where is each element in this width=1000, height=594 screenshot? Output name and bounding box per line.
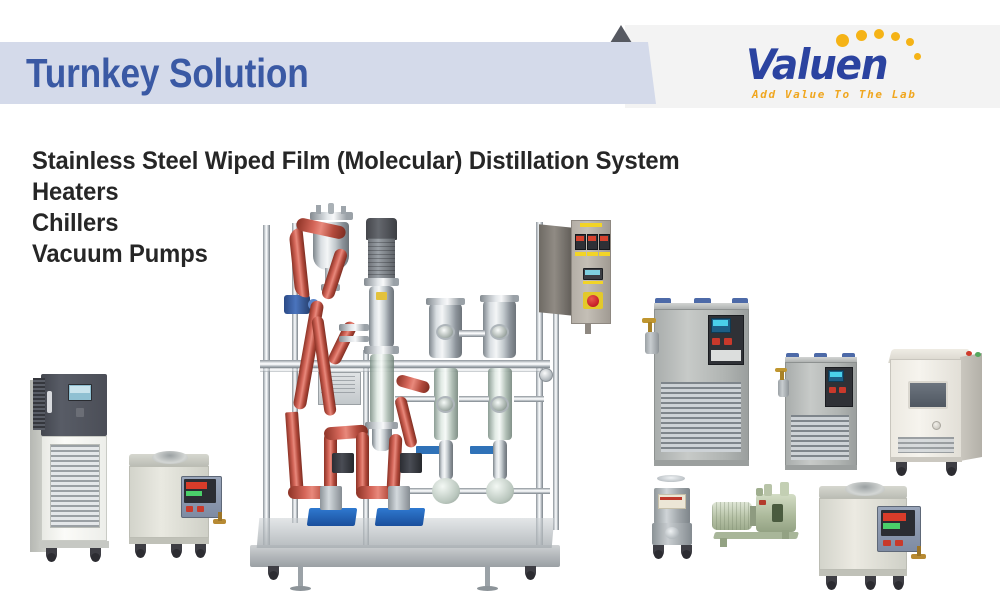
brand-logo[interactable]: Valuen Add Value To The Lab [742,28,928,102]
skid-evaporator-jacket [370,354,394,424]
skid-crossover-pipe-1 [459,330,485,337]
air-chiller-caster-1 [896,462,907,475]
chiller-left-lock-icon[interactable] [76,408,84,417]
product-rotary-vane-pump[interactable] [712,482,807,554]
rotary-pump-intake-port [764,484,772,496]
product-tall-chiller-left[interactable] [30,364,116,564]
product-bath-circulator-left[interactable] [125,446,230,564]
skid-pump-2-body [388,486,410,510]
product-control-cabinet[interactable] [533,216,615,346]
chiller-left-caster-1 [46,548,57,561]
rotary-pump-oil-fill[interactable] [756,488,763,496]
roots-pump-center-boss [665,527,679,539]
bath-left-button-1[interactable] [186,506,193,512]
logo-dot-3 [874,29,884,39]
skid-pump-2-motor [400,453,422,473]
bath-left-caster-3 [195,544,206,557]
product-chiller-large-right[interactable] [650,290,760,475]
skid-feed-vessel-port-3 [341,206,346,214]
skid-receiver-1-valve [439,440,453,480]
skid-receiver-1-top-clamp [426,298,465,305]
skid-pump-1-motor [332,453,354,473]
product-air-cooled-chiller[interactable] [884,345,994,480]
skid-valve-cluster-1 [339,324,369,331]
bath-right-caster-3 [893,576,904,589]
cabinet-display-label [583,281,603,284]
cabinet-controller-readout-3 [600,236,608,241]
chiller-left-vent-top [33,378,45,430]
chiller-small-button-2[interactable] [839,387,846,393]
skid-gauge [539,368,553,382]
cabinet-back-door[interactable] [539,224,573,316]
skid-pressure-transmitter [284,295,310,314]
skid-feed-vessel-port-1 [316,205,321,214]
chiller-large-warning-label [711,350,741,361]
chiller-large-button-2[interactable] [724,338,732,345]
skid-evaporator-flange-top [364,278,399,286]
air-chiller-indicator-green [975,352,981,357]
chiller-small-louvers [791,415,849,460]
skid-crossover-pipe-2 [459,396,489,402]
bath-right-button-1[interactable] [883,540,891,546]
skid-hose-evap-out [395,374,431,395]
skid-caster-right [525,566,536,579]
skid-pump-1-body [320,486,342,510]
poster-canvas: Turnkey Solution Valuen Add Value To The… [0,0,1000,594]
skid-pump-base-2 [375,508,426,526]
skid-caster-left [268,566,279,579]
page-title: Turnkey Solution [26,46,309,100]
roots-pump-label-text-line [660,497,682,500]
skid-post-front-left [263,225,270,555]
rotary-pump-logo-mark [759,500,766,505]
skid-leveling-foot-left [298,566,303,588]
skid-leveling-foot-right [485,566,490,588]
bath-right-controller-readout [883,513,906,521]
air-chiller-caster-2 [946,462,957,475]
bath-left-controller-readout [186,482,207,489]
air-chiller-window[interactable] [908,381,948,409]
chiller-large-base [654,460,749,466]
rotary-pump-oil-window [772,504,783,522]
air-chiller-side [960,353,982,461]
chiller-small-base [785,465,857,470]
skid-receiver-2-sight-glass-2 [490,396,509,413]
skid-evaporator-motor-fins [368,238,395,278]
skid-evaporator-flange-mid [364,346,399,354]
bath-right-controller-readout-2 [883,523,900,529]
bath-right-caster-2 [865,576,876,589]
logo-dot-6 [914,53,921,60]
chiller-large-louvers [661,382,741,452]
bath-left-button-2[interactable] [197,506,204,512]
skid-deck [250,545,560,567]
skid-receiver-2-flask [486,478,514,504]
skid-evaporator-motor [366,218,397,240]
skid-evaporator-flange-low [365,422,398,429]
cabinet-display-readout [585,270,600,275]
skid-receiver-2-top-clamp [480,295,519,302]
product-bath-circulator-right[interactable] [815,478,930,590]
rotary-pump-foot-right [782,530,789,539]
skid-receiver-1-flask [432,478,460,504]
chiller-large-port-block [645,332,659,354]
skid-valve-cluster-2 [339,336,369,342]
logo-dot-4 [891,32,900,41]
air-chiller-knob[interactable] [932,421,941,430]
bath-right-opening [845,482,885,496]
skid-leveling-foot-left-pad [290,586,311,591]
skid-receiver-1-sight-glass-2 [436,396,455,413]
skid-evaporator-tag [376,292,387,300]
bath-left-valve-handle[interactable] [218,512,222,521]
logo-dot-5 [906,38,914,46]
cabinet-emergency-stop-button[interactable] [587,295,599,307]
bath-left-opening [152,451,188,464]
chiller-left-handle[interactable] [47,391,52,413]
chiller-small-button-1[interactable] [829,387,836,393]
header-fold-triangle-icon [610,25,632,43]
roots-pump-caster-2 [681,545,692,558]
bath-left-controller-readout-2 [186,491,202,496]
cabinet-controller-readout-1 [576,236,584,241]
skid-receiver-1-sight-glass [436,324,455,340]
cabinet-controller-readout-2 [588,236,596,241]
bath-right-valve-handle[interactable] [917,546,921,556]
headline-line-1: Stainless Steel Wiped Film (Molecular) D… [32,146,680,177]
bath-right-button-2[interactable] [895,540,903,546]
roots-pump-top-ring [657,475,685,482]
bath-right-caster-1 [826,576,837,589]
chiller-large-display-readout [713,320,728,326]
chiller-left-caster-2 [90,548,101,561]
cabinet-label-1 [575,252,586,256]
bath-left-caster-1 [135,544,146,557]
air-chiller-indicator-red [966,351,972,356]
cabinet-top-label [580,223,602,227]
logo-tagline: Add Value To The Lab [752,88,916,101]
skid-pump-base-1 [307,508,358,526]
chiller-left-grille [50,444,100,528]
rotary-pump-foot-left [720,538,727,547]
bath-left-caster-2 [171,544,182,557]
skid-crossover-pipe-4 [514,396,544,402]
chiller-small-display-readout [830,372,842,377]
chiller-left-display-readout [70,386,90,393]
cabinet-label-2 [587,252,598,256]
chiller-small-port-block [778,379,789,397]
air-chiller-vent [898,437,954,453]
rotary-pump-motor-fins [712,502,752,530]
rotary-pump-exhaust-port [780,482,789,496]
skid-receiver-2-valve [493,440,507,480]
product-roots-booster-pump[interactable] [645,475,705,560]
product-chiller-small-right[interactable] [782,347,864,477]
skid-receiver-2-sight-glass [490,324,509,340]
chiller-small-inlet-stem [780,371,784,380]
skid-hose-lower-left-u [285,412,304,497]
cabinet-label-3 [599,252,610,256]
chiller-large-button-1[interactable] [712,338,720,345]
skid-feed-vessel-port-2 [328,203,334,214]
cabinet-mount-bracket [585,324,591,334]
roots-pump-caster-1 [653,545,664,558]
logo-wordmark: Valuen [746,42,887,88]
skid-leveling-foot-right-pad [477,586,498,591]
chiller-left-base [39,541,109,548]
chiller-large-inlet-stem [648,322,652,332]
